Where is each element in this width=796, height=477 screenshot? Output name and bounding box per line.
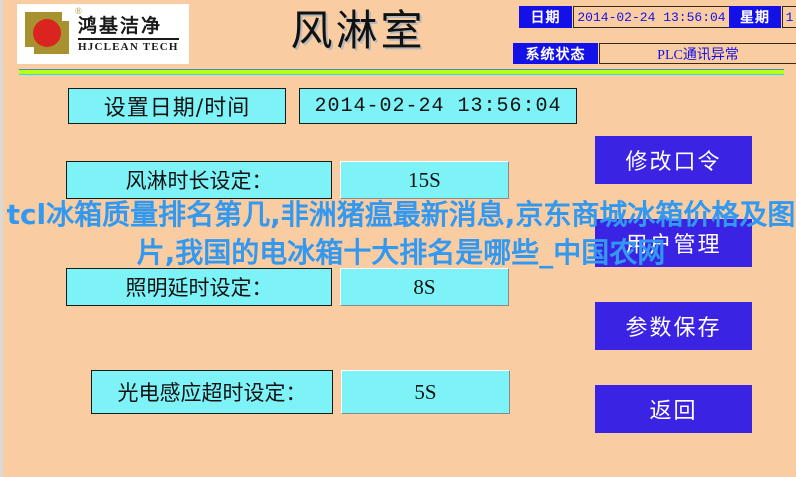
brand-text: 鸿基洁净 HJCLEAN TECH <box>78 16 179 53</box>
date-value: 2014-02-24 13:56:04 <box>573 6 730 28</box>
lighting-delay-label: 照明延时设定： <box>66 268 332 306</box>
brand-name-en: HJCLEAN TECH <box>78 41 179 53</box>
set-datetime-field[interactable]: 2014-02-24 13:56:04 <box>299 88 577 124</box>
page-title: 风淋室 <box>258 4 458 58</box>
set-datetime-label: 设置日期/时间 <box>68 88 286 124</box>
back-button[interactable]: 返回 <box>595 385 752 433</box>
user-management-button[interactable]: 用户管理 <box>595 219 752 267</box>
weekday-value: 1 <box>782 6 796 28</box>
logo-mark-icon <box>25 12 71 56</box>
brand-logo: 鸿基洁净 HJCLEAN TECH ® <box>17 4 189 64</box>
weekday-label: 星期 <box>729 6 781 28</box>
header-divider <box>19 69 784 75</box>
registered-mark-icon: ® <box>75 6 82 16</box>
brand-rule <box>78 38 179 40</box>
system-status-value: PLC通讯异常 <box>599 43 796 64</box>
lighting-delay-field[interactable]: 8S <box>340 268 509 306</box>
save-parameters-button[interactable]: 参数保存 <box>595 302 752 350</box>
date-label: 日期 <box>519 6 572 28</box>
system-status-label: 系统状态 <box>513 43 598 64</box>
photo-sensor-timeout-label: 光电感应超时设定： <box>91 370 333 414</box>
shower-duration-field[interactable]: 15S <box>340 161 509 199</box>
change-password-button[interactable]: 修改口令 <box>595 136 752 184</box>
hmi-screen: 鸿基洁净 HJCLEAN TECH ® 风淋室 日期 2014-02-24 13… <box>0 0 796 477</box>
photo-sensor-timeout-field[interactable]: 5S <box>341 370 510 414</box>
shower-duration-label: 风淋时长设定： <box>66 161 332 199</box>
brand-name-cn: 鸿基洁净 <box>78 16 179 36</box>
